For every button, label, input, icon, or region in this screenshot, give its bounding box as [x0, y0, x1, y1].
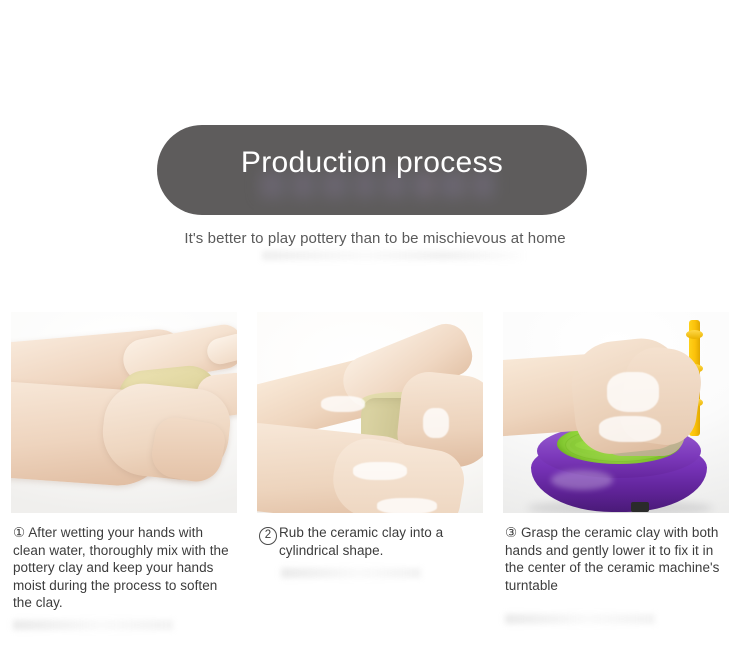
step-1-photo	[11, 312, 237, 513]
clay-slip	[321, 396, 365, 412]
step-2-number: 2	[259, 527, 277, 545]
page-subtitle: It's better to play pottery than to be m…	[0, 229, 750, 249]
clay-slip	[353, 462, 407, 480]
step-2: 2 Rub the ceramic clay into a cylindrica…	[257, 312, 483, 612]
page-root: Production process It's better to play p…	[0, 0, 750, 649]
step-1-number: ①	[13, 525, 25, 540]
subtitle-blur-artifact	[262, 251, 522, 260]
step-1-caption: ① After wetting your hands with clean wa…	[11, 524, 237, 612]
step-3: ③ Grasp the ceramic clay with both hands…	[503, 312, 729, 612]
step-3-photo	[503, 312, 729, 513]
caption-blur-artifact	[13, 620, 173, 630]
caption-blur-artifact	[281, 568, 421, 578]
step-3-number: ③	[505, 525, 517, 540]
step-1: ① After wetting your hands with clean wa…	[11, 312, 237, 612]
step-3-caption: ③ Grasp the ceramic clay with both hands…	[503, 524, 729, 594]
clay-slip	[423, 408, 449, 438]
wheel-highlight	[551, 470, 613, 490]
clay-slip	[377, 498, 437, 513]
page-title: Production process	[157, 145, 587, 181]
rod-knob	[686, 330, 703, 339]
wheel-power-switch	[631, 502, 649, 512]
caption-blur-artifact	[505, 614, 655, 624]
steps-row: ① After wetting your hands with clean wa…	[0, 312, 750, 612]
clay-slip	[599, 416, 661, 442]
header-banner: Production process	[157, 125, 587, 215]
clay-slip	[607, 372, 659, 412]
step-2-photo	[257, 312, 483, 513]
step-2-caption-text: Rub the ceramic clay into a cylindrical …	[279, 525, 443, 558]
step-3-caption-text: Grasp the ceramic clay with both hands a…	[505, 525, 719, 593]
step-2-caption: 2 Rub the ceramic clay into a cylindrica…	[257, 524, 483, 559]
step-1-caption-text: After wetting your hands with clean wate…	[13, 525, 229, 610]
